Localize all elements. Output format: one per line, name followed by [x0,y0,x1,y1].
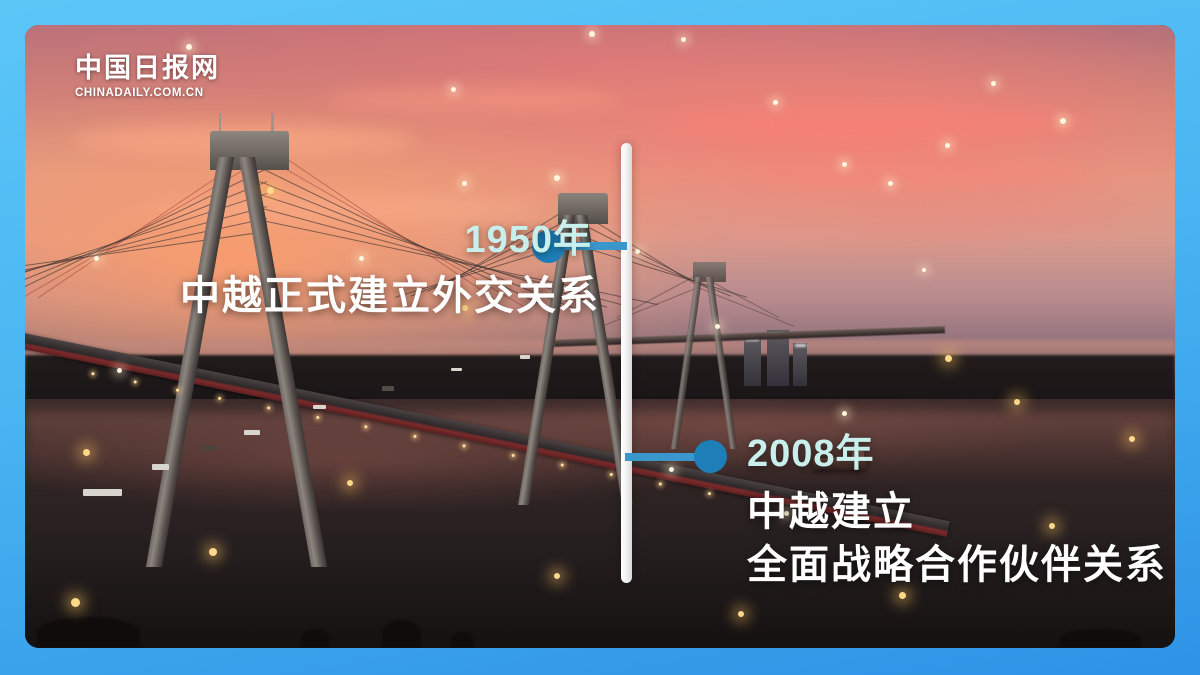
timeline-vertical-bar [621,143,632,583]
bokeh-particle [842,162,847,167]
bokeh-particle [773,100,778,105]
foreground-shrub [382,620,421,648]
vehicle [451,368,463,372]
bokeh-particle [462,181,467,186]
bokeh-particle [451,87,456,92]
bokeh-particle [899,592,906,599]
bokeh-particle [186,44,192,50]
timeline-description-line: 中越建立 [747,489,1175,536]
vehicle [152,464,169,470]
bokeh-particle [738,611,744,617]
bokeh-particle [267,187,274,194]
bokeh-particle [888,181,893,186]
chinadaily-logo: 中国日报网 CHINADAILY.COM.CN [75,55,220,99]
timeline-entry-1950: 1950年 中越正式建立外交关系 [120,221,600,320]
foreground-shrub [1060,629,1141,648]
bokeh-particle [922,268,926,272]
vehicle [382,386,395,390]
bokeh-particle [94,256,99,261]
timeline-year-label: 2008年 [747,435,1175,473]
timeline-dot-icon [694,440,727,473]
timeline-entry-2008: 2008年 中越建立 全面战略合作伙伴关系 [747,435,1175,589]
vehicle [313,405,327,409]
timeline-connector-line [625,453,705,461]
logo-english-url: CHINADAILY.COM.CN [75,87,220,99]
vehicle [203,446,218,451]
timeline-description-line: 中越正式建立外交关系 [120,273,600,320]
foreground-shrub [37,617,141,648]
timeline-description-line: 全面战略合作伙伴关系 [747,542,1175,589]
bokeh-particle [715,324,720,329]
logo-chinese-text: 中国日报网 [75,55,220,82]
bokeh-particle [842,411,847,416]
vehicle [520,355,530,359]
bokeh-particle [635,249,640,254]
bokeh-particle [589,31,595,37]
bokeh-particle [554,175,560,181]
foreground-shrub [301,629,329,648]
bridge-pylon-near [140,131,359,567]
bokeh-particle [1014,399,1020,405]
bokeh-particle [117,368,122,373]
vehicle [244,430,260,435]
bridge-pylon-far [663,262,755,449]
timeline-year-label: 1950年 [120,221,600,259]
vehicle [83,489,122,496]
bokeh-particle [83,449,90,456]
foreground-shrub [451,632,474,648]
video-frame: 中国日报网 CHINADAILY.COM.CN 1950年 中越正式建立外交关系… [25,25,1175,648]
bokeh-particle [347,480,353,486]
